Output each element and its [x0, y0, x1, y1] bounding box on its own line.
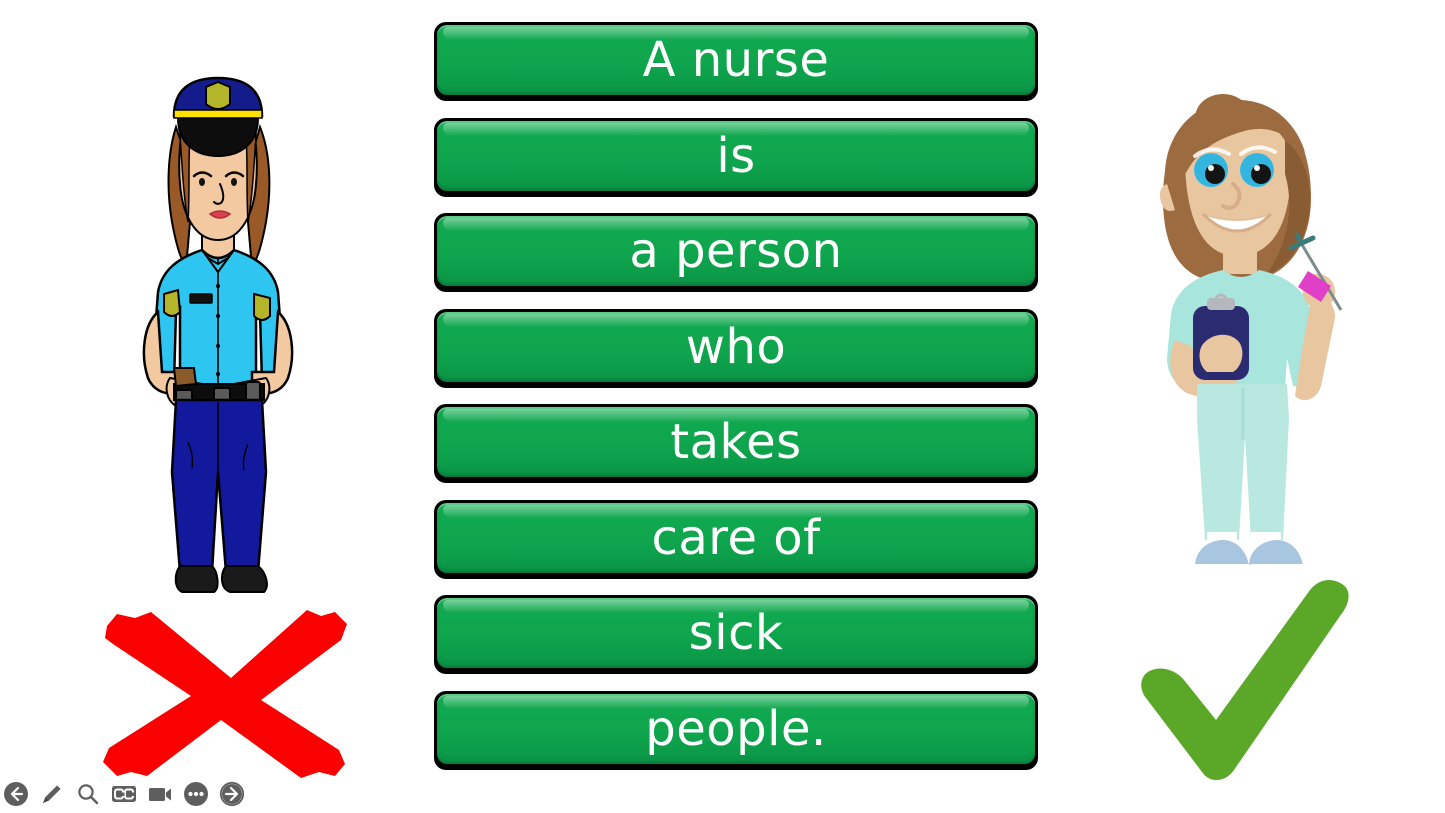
nurse-illustration: [1145, 88, 1360, 587]
sentence-strip[interactable]: care of: [434, 500, 1038, 579]
sentence-strip-surface: who: [437, 312, 1035, 382]
player-toolbar: [2, 779, 246, 809]
closed-captions-icon[interactable]: [110, 780, 138, 808]
sentence-strip-label: people.: [645, 705, 826, 753]
police-officer-illustration: [118, 72, 318, 606]
red-cross-mark: [95, 608, 353, 784]
back-arrow-icon[interactable]: [2, 780, 30, 808]
sentence-strip[interactable]: people.: [434, 691, 1038, 770]
sentence-strip-label: is: [716, 132, 755, 180]
sentence-strip-surface: takes: [437, 407, 1035, 477]
sentence-strip-list: A nurse is a person who takes care of si…: [434, 22, 1038, 770]
sentence-strip-label: takes: [670, 418, 801, 466]
sentence-strip-surface: people.: [437, 694, 1035, 764]
sentence-strip-surface: A nurse: [437, 25, 1035, 95]
sentence-strip-label: who: [686, 323, 787, 371]
sentence-strip[interactable]: who: [434, 309, 1038, 388]
video-camera-icon[interactable]: [146, 780, 174, 808]
sentence-strip-surface: care of: [437, 503, 1035, 573]
sentence-strip-label: care of: [651, 514, 820, 562]
sentence-strip[interactable]: A nurse: [434, 22, 1038, 101]
sentence-strip-surface: a person: [437, 216, 1035, 286]
forward-arrow-icon[interactable]: [218, 780, 246, 808]
more-options-icon[interactable]: [182, 780, 210, 808]
sentence-strip[interactable]: a person: [434, 213, 1038, 292]
sentence-strip[interactable]: takes: [434, 404, 1038, 483]
search-icon[interactable]: [74, 780, 102, 808]
sentence-strip-label: A nurse: [643, 36, 830, 84]
sentence-strip-label: sick: [689, 609, 784, 657]
sentence-strip-surface: sick: [437, 598, 1035, 668]
sentence-strip-surface: is: [437, 121, 1035, 191]
sentence-strip[interactable]: is: [434, 118, 1038, 197]
sentence-strip-label: a person: [629, 227, 842, 275]
green-check-mark: [1110, 570, 1350, 796]
sentence-strip[interactable]: sick: [434, 595, 1038, 674]
pencil-icon[interactable]: [38, 780, 66, 808]
